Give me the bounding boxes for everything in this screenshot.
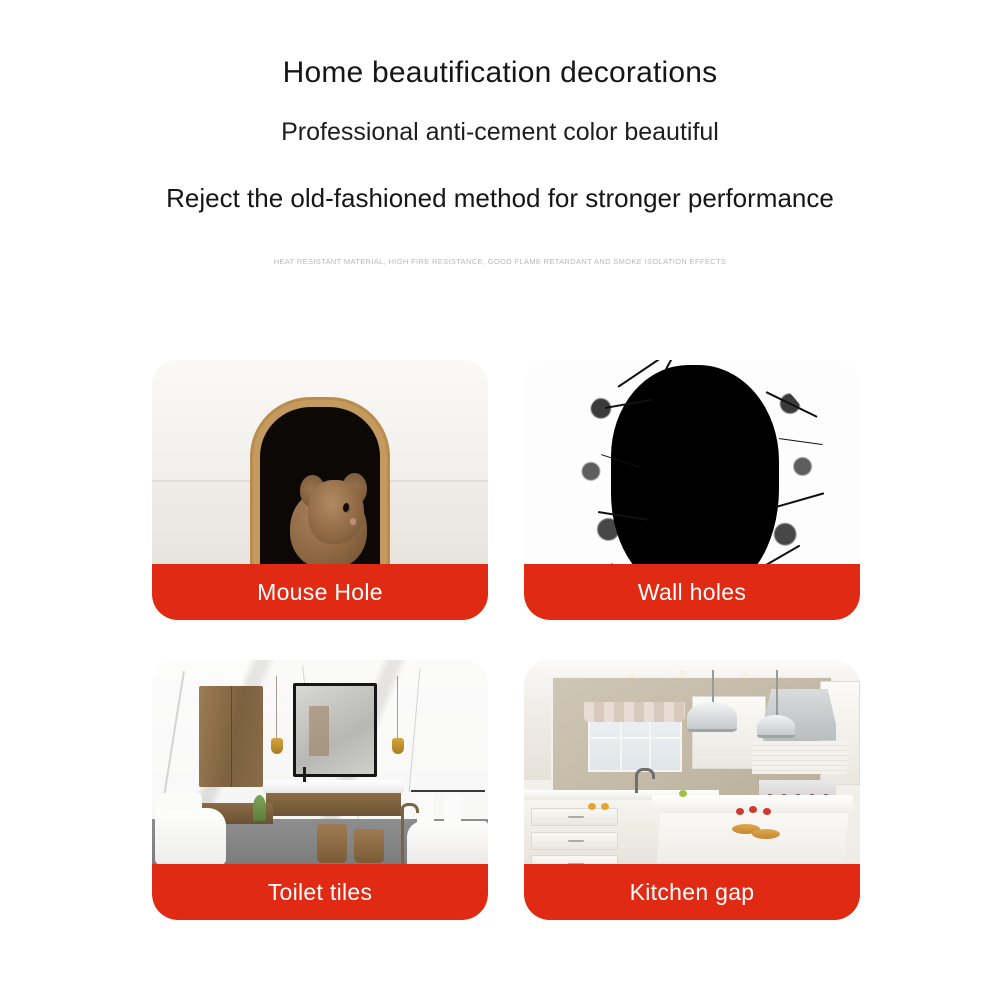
sink-faucet <box>635 774 638 792</box>
feature-tagline: HEAT RESISTANT MATERIAL, HIGH FIRE RESIS… <box>0 211 1000 266</box>
drawer-handle <box>568 840 584 842</box>
page-title: Home beautification decorations <box>0 0 1000 88</box>
pendant-rod <box>776 670 778 719</box>
header: Home beautification decorations Professi… <box>0 0 1000 266</box>
card-label-wall-holes: Wall holes <box>524 564 860 620</box>
bathroom-mirror <box>293 683 377 777</box>
card-label-text: Wall holes <box>638 579 746 606</box>
pendant-light <box>687 702 737 732</box>
card-label-text: Mouse Hole <box>257 579 383 606</box>
pendant-light <box>757 715 795 738</box>
card-label-text: Kitchen gap <box>630 879 755 906</box>
subtitle-secondary: Reject the old-fashioned method for stro… <box>0 145 1000 211</box>
window-valance <box>584 702 685 723</box>
window-mullion <box>590 737 680 739</box>
black-hole-shape <box>611 365 779 594</box>
tomato <box>749 806 757 813</box>
wooden-basket <box>354 829 384 863</box>
decor-plant <box>253 795 266 821</box>
mouse-illustration <box>286 469 370 573</box>
pendant-cord <box>397 676 398 738</box>
use-case-card-grid: Mouse Hole Wall holes <box>152 360 860 920</box>
card-mouse-hole[interactable]: Mouse Hole <box>152 360 488 620</box>
card-kitchen-gap[interactable]: Kitchen gap <box>524 660 860 920</box>
pendant-bulb <box>392 738 404 754</box>
vanity-countertop <box>263 780 404 793</box>
orange-fruit <box>588 803 596 810</box>
mouse-head <box>308 480 363 544</box>
tile-backsplash <box>752 741 846 775</box>
pendant-bulb <box>271 738 283 754</box>
drawer-handle <box>568 816 584 818</box>
tomato <box>763 808 771 815</box>
pendant-cord <box>276 676 277 738</box>
subtitle-primary: Professional anti-cement color beautiful <box>0 88 1000 145</box>
towel-bar <box>411 790 485 792</box>
tub-faucet <box>401 808 404 865</box>
card-label-text: Toilet tiles <box>268 879 373 906</box>
basin-faucet <box>303 767 306 783</box>
bathtub <box>407 821 488 865</box>
card-toilet-tiles[interactable]: Toilet tiles <box>152 660 488 920</box>
toilet <box>155 808 226 865</box>
cabinet-drawer <box>531 832 618 850</box>
cabinet-drawer <box>531 808 618 826</box>
mouse-eye <box>343 503 350 513</box>
wooden-basket <box>317 824 347 863</box>
card-label-kitchen-gap: Kitchen gap <box>524 864 860 920</box>
wall-cabinet <box>199 686 263 787</box>
card-wall-holes[interactable]: Wall holes <box>524 360 860 620</box>
product-banner: Home beautification decorations Professi… <box>0 0 1000 1000</box>
vanity-cabinet <box>266 793 400 816</box>
green-fruit <box>679 790 687 797</box>
card-label-mouse-hole: Mouse Hole <box>152 564 488 620</box>
mouse-nose <box>350 518 356 524</box>
card-label-toilet-tiles: Toilet tiles <box>152 864 488 920</box>
tomato <box>736 808 744 815</box>
